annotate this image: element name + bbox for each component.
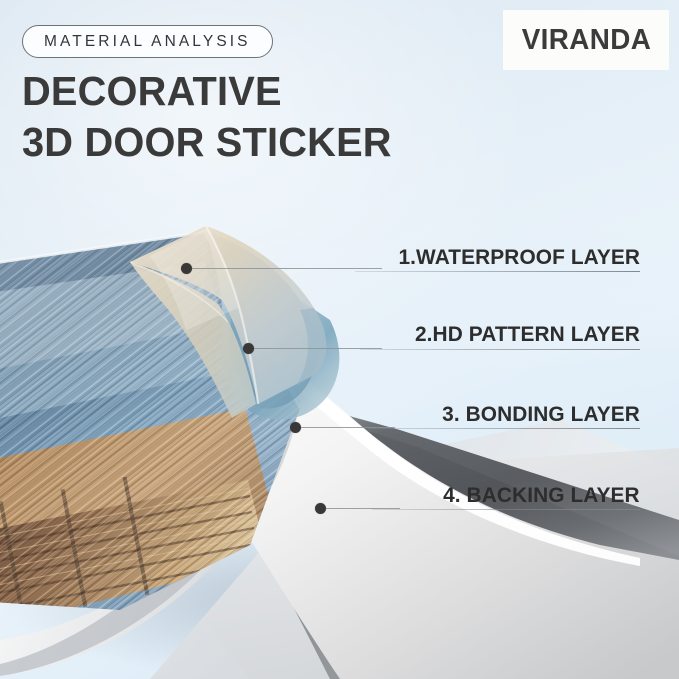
badge-label: MATERIAL ANALYSIS [44,33,251,51]
callout-dot-layer-3 [290,422,301,433]
title-line-2: 3D DOOR STICKER [22,121,526,164]
callout-label-layer-2: 2.HD PATTERN LAYER [415,322,640,347]
page-title: DECORATIVE 3D DOOR STICKER [22,70,542,164]
poster-canvas: MATERIAL ANALYSIS VIRANDA DECORATIVE 3D … [0,0,679,679]
callout-dot-layer-4 [315,503,326,514]
callout-rule-layer-2 [360,349,640,350]
brand-name: VIRANDA [521,24,651,57]
callout-label-layer-1: 1.WATERPROOF LAYER [398,245,640,270]
callout-leader-layer-1 [192,268,382,269]
callout-label-layer-4: 4. BACKING LAYER [443,483,640,508]
callout-dot-layer-2 [243,343,254,354]
title-line-1: DECORATIVE [22,70,526,113]
callout-rule-layer-1 [355,271,640,272]
callout-dot-layer-1 [181,263,192,274]
brand-logo-box: VIRANDA [503,10,669,70]
callout-rule-layer-4 [372,509,640,510]
material-analysis-badge: MATERIAL ANALYSIS [22,25,273,58]
callout-rule-layer-3 [368,428,640,429]
callout-label-layer-3: 3. BONDING LAYER [442,402,640,427]
